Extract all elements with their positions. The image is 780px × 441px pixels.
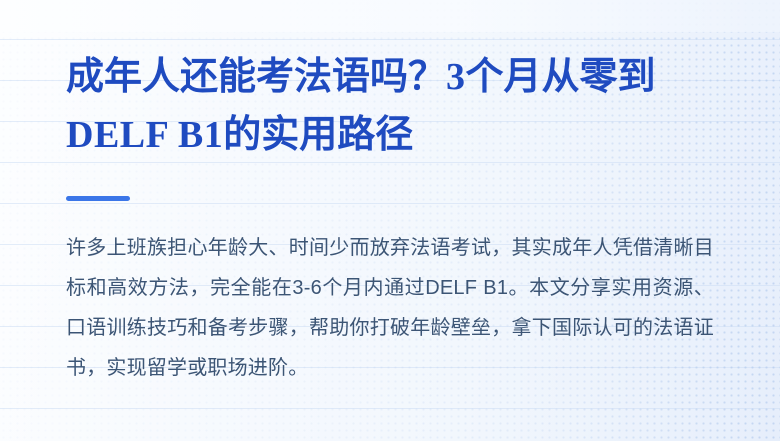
headline-line2-cjk: 的实用路径	[223, 114, 413, 156]
headline-line1-latin: 3	[446, 56, 466, 98]
summary-paragraph: 许多上班族担心年龄大、时间少而放弃法语考试，其实成年人凭借清晰目标和高效方法，完…	[66, 228, 714, 388]
headline-line1-cjk-a: 成年人还能考法语吗？	[66, 56, 446, 98]
article-cover-card: 成年人还能考法语吗？3个月从零到DELF B1的实用路径 许多上班族担心年龄大、…	[0, 0, 780, 441]
headline-line2-latin: DELF B1	[66, 114, 223, 156]
headline-line1-cjk-b: 个月从零到	[466, 56, 656, 98]
cover-content: 成年人还能考法语吗？3个月从零到DELF B1的实用路径 许多上班族担心年龄大、…	[66, 0, 716, 441]
page-title: 成年人还能考法语吗？3个月从零到DELF B1的实用路径	[66, 48, 718, 164]
accent-divider	[66, 196, 130, 201]
